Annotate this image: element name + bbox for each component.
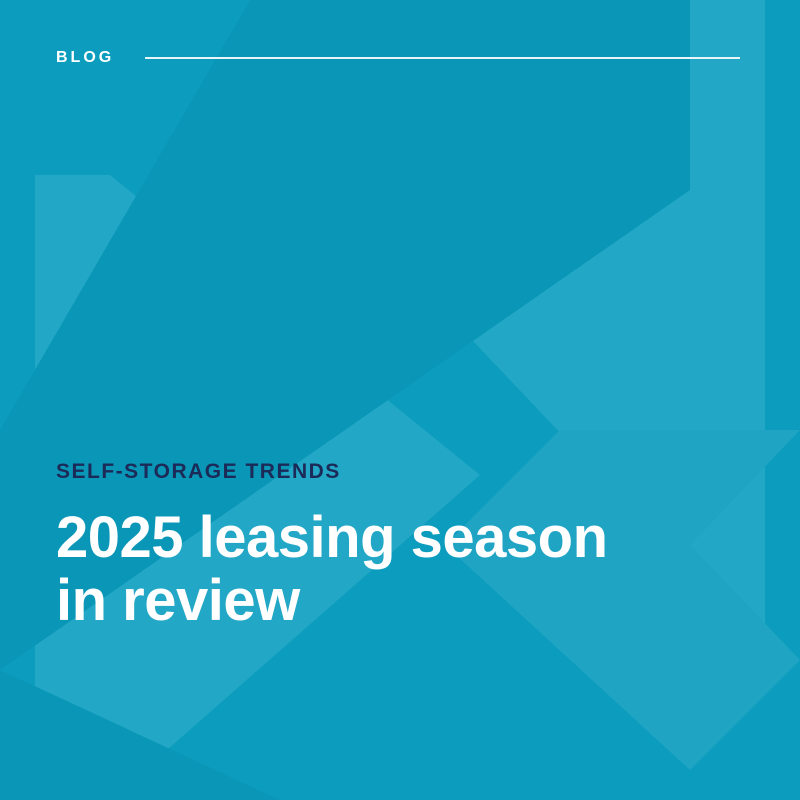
header-divider-rule (145, 57, 740, 59)
category-eyebrow: SELF-STORAGE TRENDS (56, 460, 666, 483)
page-title: 2025 leasing season in review (56, 507, 616, 632)
kicker-label: BLOG (56, 50, 114, 66)
hero-top-row: BLOG (56, 44, 740, 72)
hero-text-block: SELF-STORAGE TRENDS 2025 leasing season … (56, 460, 666, 632)
background-monogram-artwork (0, 0, 800, 800)
blog-hero-card: BLOG SELF-STORAGE TRENDS 2025 leasing se… (0, 0, 800, 800)
